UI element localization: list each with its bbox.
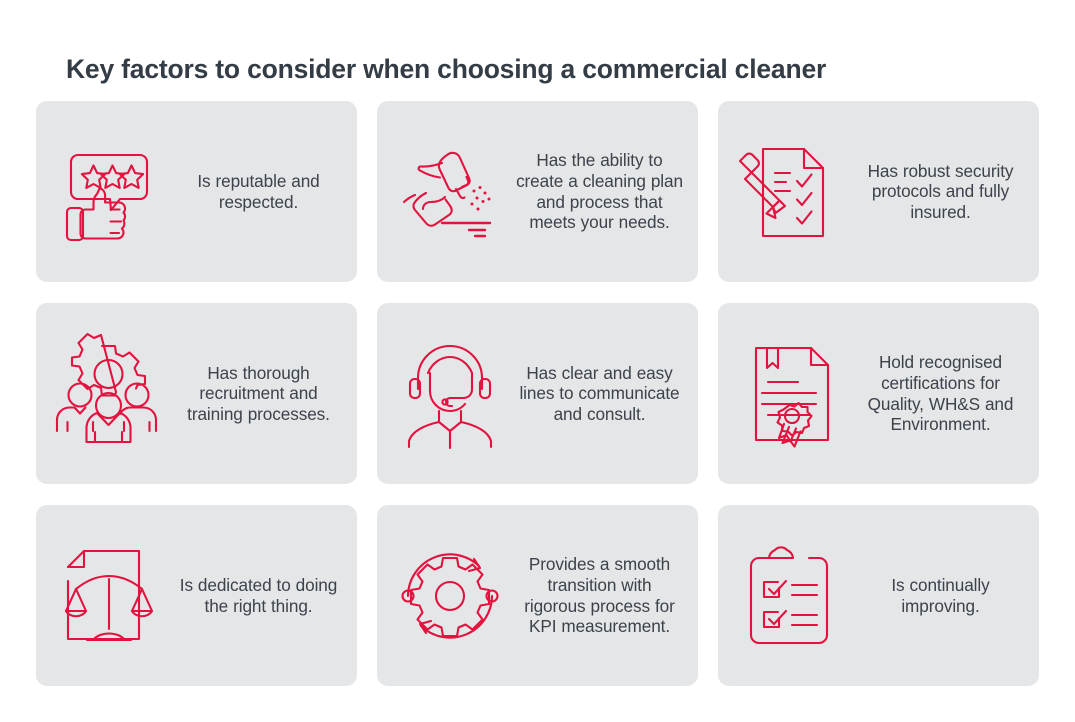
factors-grid: Is reputable and respected.: [36, 101, 1038, 686]
gear-circular-arrows-icon: [389, 541, 511, 651]
factor-card-reputable[interactable]: Is reputable and respected.: [36, 101, 357, 282]
factor-card-security[interactable]: Has robust security protocols and fully …: [718, 101, 1039, 282]
factor-card-text: Is dedicated to doing the right thing.: [170, 575, 347, 616]
factor-card-certifications[interactable]: Hold recognised certifications for Quali…: [718, 303, 1039, 484]
certificate-ribbon-seal-icon: [730, 339, 852, 449]
factor-card-text: Hold recognised certifications for Quali…: [852, 352, 1029, 434]
headset-support-agent-icon: [389, 339, 511, 449]
document-scales-justice-icon: [48, 541, 170, 651]
people-gear-team-icon: [48, 339, 170, 449]
factor-card-text: Has clear and easy lines to communicate …: [511, 363, 688, 425]
factor-card-communicate[interactable]: Has clear and easy lines to communicate …: [377, 303, 698, 484]
thumbs-up-rating-stars-icon: [48, 137, 170, 247]
factor-card-text: Has the ability to create a cleaning pla…: [511, 150, 688, 232]
factor-card-text: Provides a smooth transition with rigoro…: [511, 554, 688, 636]
factor-card-text: Is reputable and respected.: [170, 171, 347, 212]
factor-card-recruitment[interactable]: Has thorough recruitment and training pr…: [36, 303, 357, 484]
factor-card-text: Has robust security protocols and fully …: [852, 161, 1029, 223]
factor-card-cleaning-plan[interactable]: Has the ability to create a cleaning pla…: [377, 101, 698, 282]
factor-card-ethics[interactable]: Is dedicated to doing the right thing.: [36, 505, 357, 686]
factor-card-improving[interactable]: Is continually improving.: [718, 505, 1039, 686]
page-title: Key factors to consider when choosing a …: [66, 54, 826, 85]
pencil-checklist-document-icon: [730, 137, 852, 247]
factor-card-text: Has thorough recruitment and training pr…: [170, 363, 347, 425]
infographic-page: Key factors to consider when choosing a …: [0, 0, 1075, 722]
factor-card-text: Is continually improving.: [852, 575, 1029, 616]
hand-spray-bottle-icon: [389, 137, 511, 247]
factor-card-transition[interactable]: Provides a smooth transition with rigoro…: [377, 505, 698, 686]
clipboard-checkboxes-icon: [730, 541, 852, 651]
